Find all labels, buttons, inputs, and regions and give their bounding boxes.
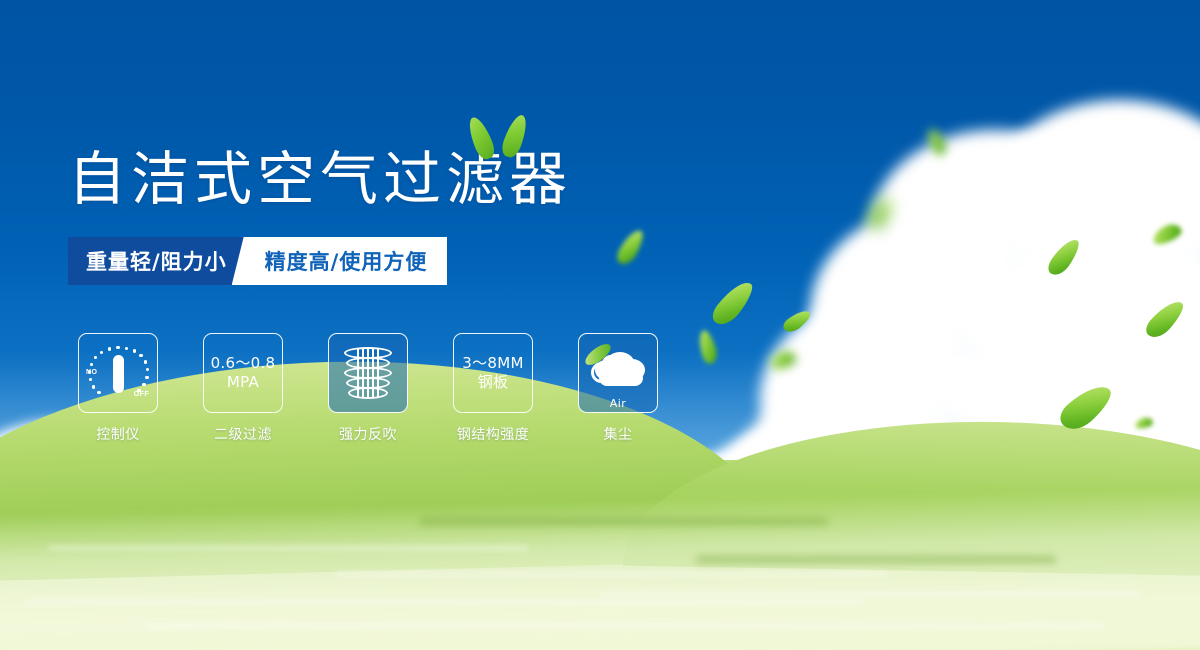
steel-line-1: 3～8MM — [462, 354, 523, 373]
air-cloud-icon: Air — [589, 350, 647, 396]
steel-plate-text-icon: 3～8MM 钢板 — [462, 354, 523, 392]
pressure-text-icon: 0.6～0.8 MPA — [211, 354, 276, 392]
gauge-off-label: OFF — [134, 391, 149, 398]
subtitle-right-block: 精度高/使用方便 — [249, 237, 448, 285]
feature-item-controller[interactable]: NO OFF 控制仪 — [78, 333, 158, 444]
product-banner: 自洁式空气过滤器 重量轻/阻力小 精度高/使用方便 — [0, 0, 1200, 650]
subtitle-bar: 重量轻/阻力小 精度高/使用方便 — [68, 237, 447, 285]
pressure-line-2: MPA — [211, 373, 276, 392]
feature-label: 二级过滤 — [214, 424, 272, 444]
gauge-dial-icon: NO OFF — [87, 342, 149, 404]
feature-label: 强力反吹 — [339, 424, 397, 444]
feature-item-filtration[interactable]: 0.6～0.8 MPA 二级过滤 — [203, 333, 283, 444]
sprout-leaves-icon — [470, 112, 540, 162]
steel-line-2: 钢板 — [462, 373, 523, 392]
feature-icon-box: Air — [578, 333, 658, 413]
gauge-on-label: NO — [86, 369, 97, 376]
feature-item-steel[interactable]: 3～8MM 钢板 钢结构强度 — [453, 333, 533, 444]
feature-item-backflush[interactable]: 强力反吹 — [328, 333, 408, 444]
feature-icon-box — [328, 333, 408, 413]
feature-icon-box: 3～8MM 钢板 — [453, 333, 533, 413]
feature-item-dust[interactable]: Air 集尘 — [578, 333, 658, 444]
feature-label: 控制仪 — [96, 424, 140, 444]
feature-icon-box: NO OFF — [78, 333, 158, 413]
feature-label: 集尘 — [604, 424, 633, 444]
air-label: Air — [589, 397, 647, 410]
grass-meadow — [0, 460, 1200, 650]
subtitle-left-block: 重量轻/阻力小 — [68, 237, 249, 285]
pressure-line-1: 0.6～0.8 — [211, 354, 276, 373]
feature-icon-box: 0.6～0.8 MPA — [203, 333, 283, 413]
feature-list: NO OFF 控制仪 0.6～0.8 MPA 二级过滤 — [78, 333, 658, 444]
feature-label: 钢结构强度 — [457, 424, 530, 444]
airflow-rings-icon — [343, 345, 393, 401]
